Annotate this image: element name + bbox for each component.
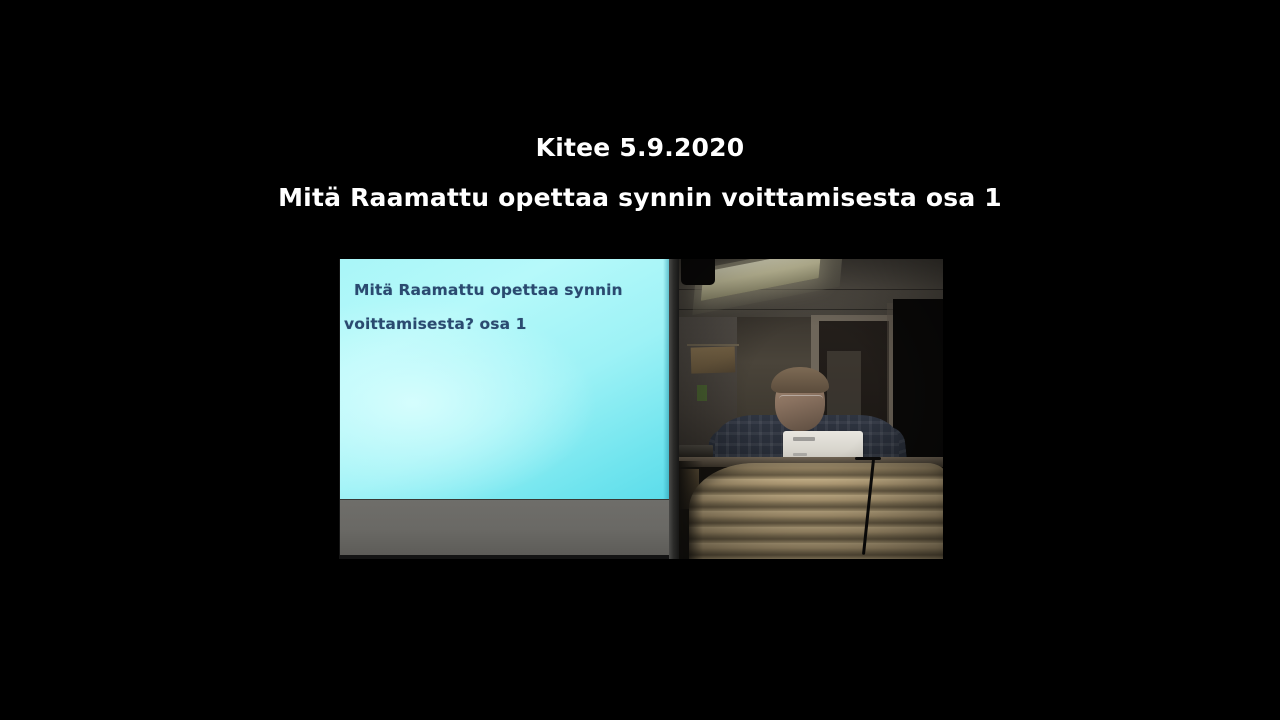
desk-books bbox=[679, 445, 713, 457]
projected-slide: Mitä Raamattu opettaa synnin voittamises… bbox=[340, 259, 669, 499]
screen-bezel-right bbox=[669, 259, 679, 559]
podium-front-slats bbox=[689, 463, 943, 559]
page-title-line-2: Mitä Raamattu opettaa synnin voittamises… bbox=[0, 180, 1280, 216]
page-title-line-1: Kitee 5.9.2020 bbox=[0, 130, 1280, 166]
glasses-icon bbox=[779, 395, 823, 405]
podium-shadow bbox=[679, 461, 703, 559]
cable-horizontal bbox=[855, 457, 881, 460]
podium bbox=[679, 457, 943, 559]
slide-text: Mitä Raamattu opettaa synnin voittamises… bbox=[344, 273, 662, 341]
wall-green-object bbox=[697, 385, 707, 401]
wall-below-screen bbox=[340, 498, 671, 555]
laptop-logo-secondary bbox=[793, 453, 807, 456]
projection-screen-pane: Mitä Raamattu opettaa synnin voittamises… bbox=[339, 259, 679, 559]
slide-text-line-2: voittamisesta? osa 1 bbox=[344, 307, 662, 341]
speaker-hair bbox=[771, 367, 829, 393]
video-thumbnail[interactable]: Mitä Raamattu opettaa synnin voittamises… bbox=[339, 259, 943, 559]
video-title-block: Kitee 5.9.2020 Mitä Raamattu opettaa syn… bbox=[0, 130, 1280, 216]
laptop-logo bbox=[793, 437, 815, 441]
room-photo-pane bbox=[679, 259, 943, 559]
ceiling-projector bbox=[681, 259, 715, 285]
slide-text-line-1: Mitä Raamattu opettaa synnin bbox=[344, 273, 662, 307]
